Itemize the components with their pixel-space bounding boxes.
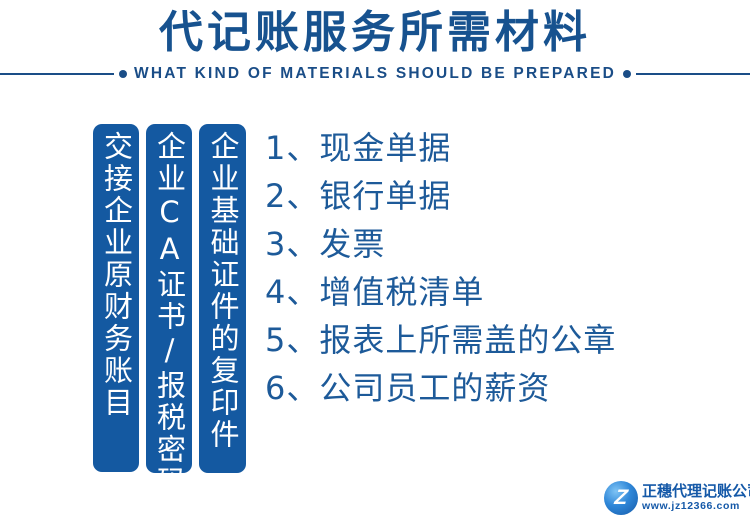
divider-dot-right-icon xyxy=(623,70,631,78)
logo-text-group: 正穗代理记账公司 www.jz12366.com xyxy=(642,483,750,513)
subtitle: WHAT KIND OF MATERIALS SHOULD BE PREPARE… xyxy=(132,64,618,84)
divider-dot-left-icon xyxy=(119,70,127,78)
pill-box-handover-accounts: 交接企业原财务账目 xyxy=(93,124,139,472)
subtitle-divider-row: WHAT KIND OF MATERIALS SHOULD BE PREPARE… xyxy=(0,62,750,86)
list-item: 2、银行单据 xyxy=(265,172,735,220)
page-title: 代记账服务所需材料 xyxy=(0,7,750,59)
pill-box-basic-documents-copy: 企业基础证件的复印件 xyxy=(199,124,246,473)
divider-line-left xyxy=(0,73,114,75)
list-item: 3、发票 xyxy=(265,220,735,268)
pill-box-label: 交接企业原财务账目 xyxy=(99,124,134,419)
logo-website-url: www.jz12366.com xyxy=(642,500,750,513)
list-item: 5、报表上所需盖的公章 xyxy=(265,316,735,364)
list-item: 6、公司员工的薪资 xyxy=(265,364,735,412)
logo-company-name: 正穗代理记账公司 xyxy=(642,483,750,500)
list-item: 1、现金单据 xyxy=(265,124,735,172)
logo-circle-icon: Z xyxy=(604,481,638,515)
list-item: 4、增值税清单 xyxy=(265,268,735,316)
header: 代记账服务所需材料 WHAT KIND OF MATERIALS SHOULD … xyxy=(0,0,750,100)
pill-box-label: 企业基础证件的复印件 xyxy=(205,124,240,451)
divider-line-right xyxy=(636,73,750,75)
pill-box-label: 企业CA证书/报税密码 xyxy=(152,124,187,473)
logo-watermark: Z 正穗代理记账公司 www.jz12366.com xyxy=(604,479,744,517)
poster-canvas: 代记账服务所需材料 WHAT KIND OF MATERIALS SHOULD … xyxy=(0,0,750,524)
logo-z-glyph: Z xyxy=(602,481,640,515)
materials-list: 1、现金单据 2、银行单据 3、发票 4、增值税清单 5、报表上所需盖的公章 6… xyxy=(265,124,735,412)
pill-box-ca-certificate: 企业CA证书/报税密码 xyxy=(146,124,192,473)
